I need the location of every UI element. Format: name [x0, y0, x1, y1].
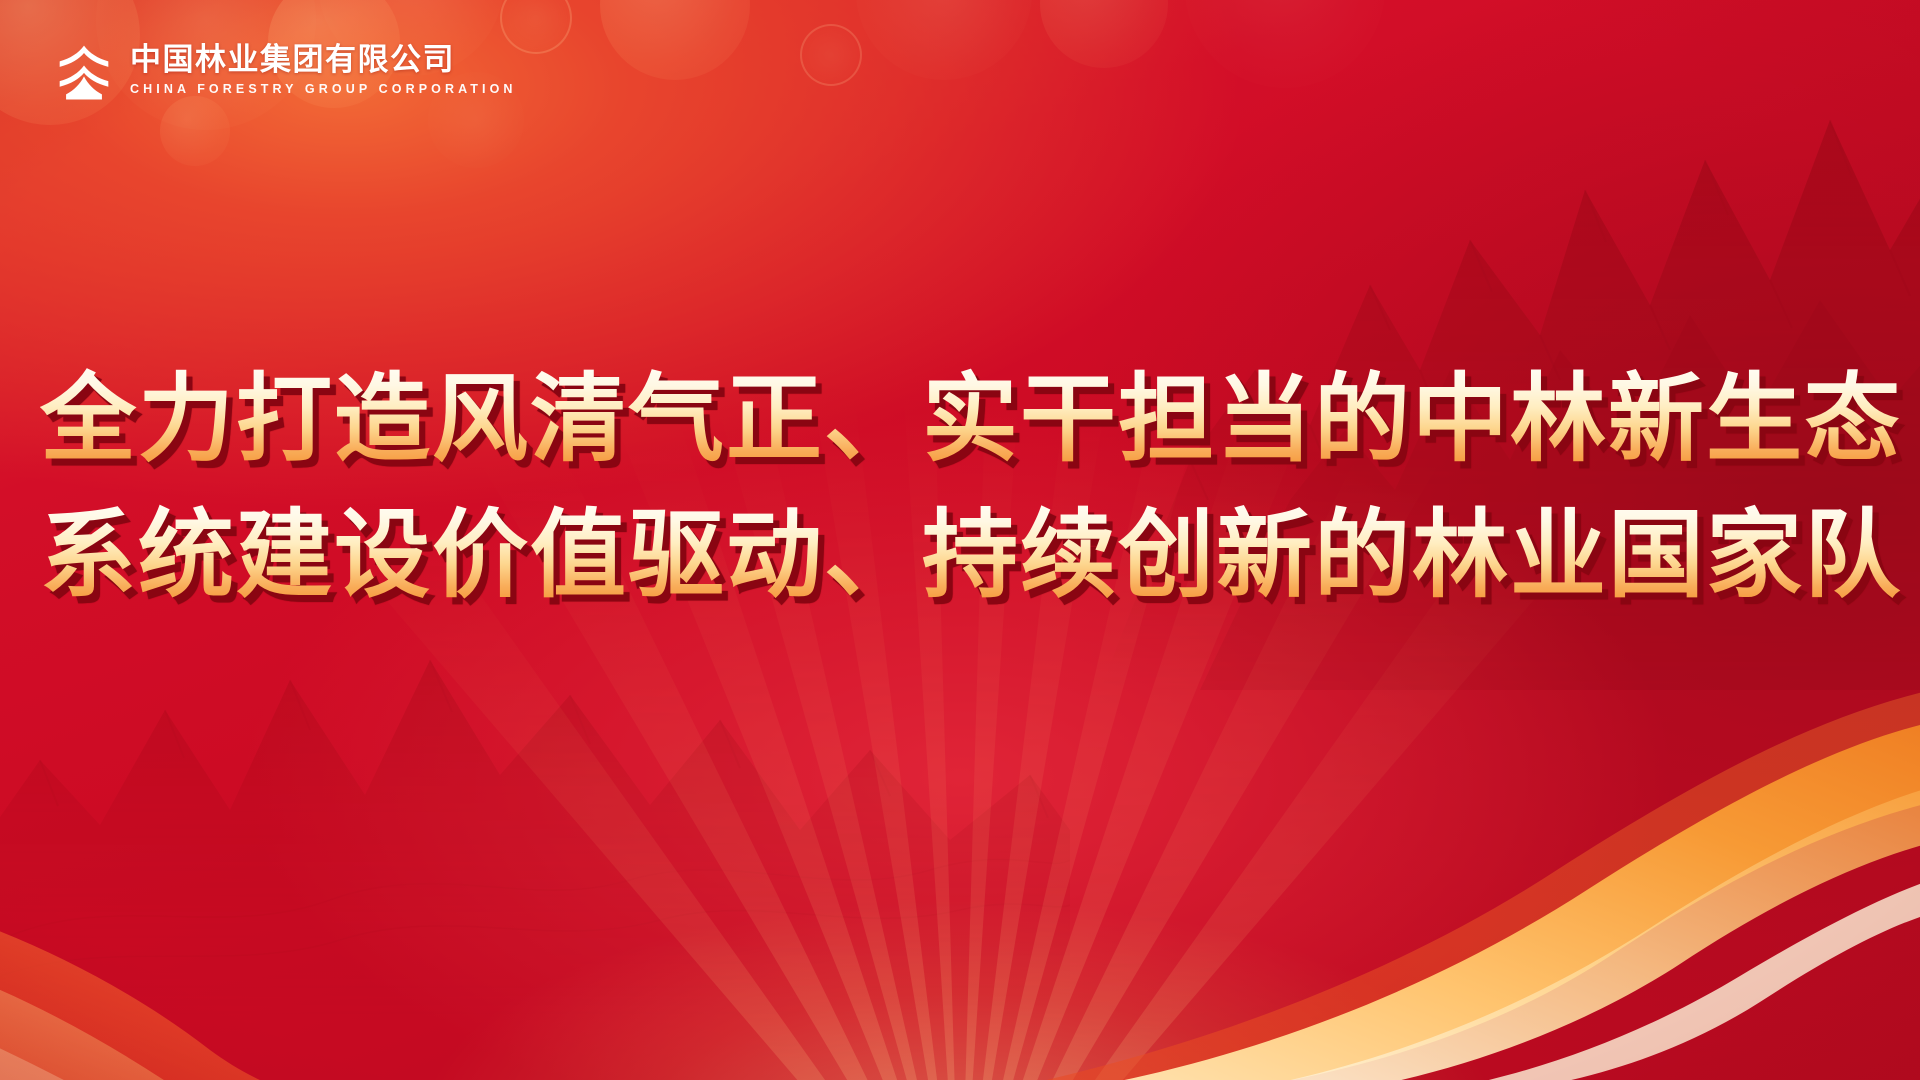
- china-forestry-group-pagoda-mark-icon: [52, 38, 116, 102]
- headline-line-1: 全力打造风清气正、实干担当的中林新生态 全力打造风清气正、实干担当的中林新生态: [40, 352, 1902, 488]
- company-logo: 中国林业集团有限公司 CHINA FORESTRY GROUP CORPORAT…: [52, 38, 517, 102]
- headline-line-1-text: 全力打造风清气正、实干担当的中林新生态: [40, 366, 1902, 473]
- headline-line-2: 系统建设价值驱动、持续创新的林业国家队 系统建设价值驱动、持续创新的林业国家队: [40, 488, 1902, 624]
- headline-block: 全力打造风清气正、实干担当的中林新生态 全力打造风清气正、实干担当的中林新生态 …: [0, 352, 1920, 625]
- headline-line-2-text: 系统建设价值驱动、持续创新的林业国家队: [40, 502, 1902, 609]
- logo-company-name-cn: 中国林业集团有限公司: [130, 43, 517, 76]
- logo-wordmark: 中国林业集团有限公司 CHINA FORESTRY GROUP CORPORAT…: [130, 43, 517, 98]
- banner-canvas: 中国林业集团有限公司 CHINA FORESTRY GROUP CORPORAT…: [0, 0, 1920, 1080]
- logo-company-name-en: CHINA FORESTRY GROUP CORPORATION: [130, 81, 517, 97]
